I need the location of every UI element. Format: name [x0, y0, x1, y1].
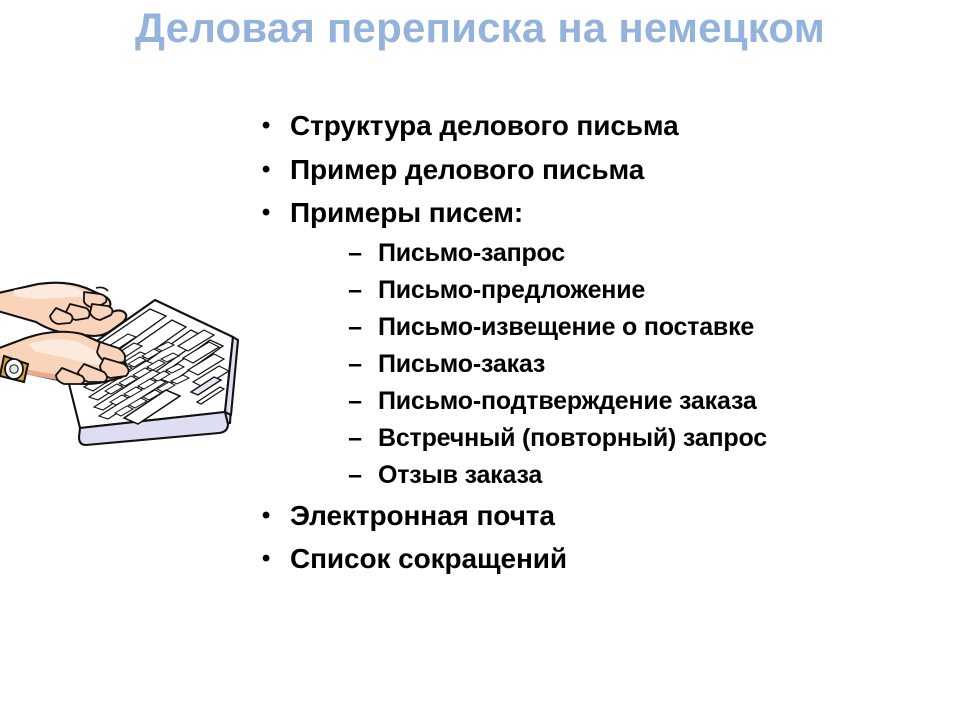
dash-marker-icon: – — [346, 235, 364, 272]
sub-list-item-inquiry: – Письмо-запрос — [290, 235, 910, 272]
dash-marker-icon: – — [346, 457, 364, 494]
watch-dial — [10, 365, 18, 373]
sub-list-item-label: Письмо-подтверждение заказа — [378, 383, 910, 420]
sub-list-item-order-withdrawal: – Отзыв заказа — [290, 457, 910, 494]
slide-canvas: Деловая переписка на немецком — [0, 0, 960, 720]
sub-list-item-label: Встречный (повторный) запрос — [378, 420, 910, 457]
list-item-structure: • Структура делового письма — [250, 104, 910, 148]
list-item-label: Электронная почта — [290, 494, 910, 538]
outline-list-level1: • Структура делового письма • Пример дел… — [250, 104, 910, 581]
bullet-marker-icon: • — [260, 537, 272, 581]
bullet-content: • Структура делового письма • Пример дел… — [250, 104, 910, 581]
dash-marker-icon: – — [346, 346, 364, 383]
hands-typing-on-keyboard-image — [0, 252, 262, 457]
bullet-marker-icon: • — [260, 148, 272, 192]
sub-list-item-label: Письмо-запрос — [378, 235, 910, 272]
bullet-marker-icon: • — [260, 191, 272, 235]
outline-list-level2: – Письмо-запрос – Письмо-предложение – П… — [290, 235, 910, 494]
sub-list-item-label: Письмо-предложение — [378, 272, 910, 309]
list-item-examples-heading: • Примеры писем: – Письмо-запрос – Письм… — [250, 191, 910, 494]
list-item-label: Примеры писем: — [290, 191, 910, 235]
list-item-email: • Электронная почта — [250, 494, 910, 538]
dash-marker-icon: – — [346, 383, 364, 420]
list-item-abbreviations: • Список сокращений — [250, 537, 910, 581]
dash-marker-icon: – — [346, 309, 364, 346]
page-title: Деловая переписка на немецком — [120, 4, 840, 53]
upper-thumb-line — [96, 287, 108, 291]
list-item-label: Структура делового письма — [290, 104, 910, 148]
list-item-label: Пример делового письма — [290, 148, 910, 192]
dash-marker-icon: – — [346, 420, 364, 457]
sub-list-item-label: Письмо-заказ — [378, 346, 910, 383]
sub-list-item-label: Отзыв заказа — [378, 457, 910, 494]
sub-list-item-order-confirmation: – Письмо-подтверждение заказа — [290, 383, 910, 420]
bullet-marker-icon: • — [260, 104, 272, 148]
sub-list-item-order: – Письмо-заказ — [290, 346, 910, 383]
bullet-marker-icon: • — [260, 494, 272, 538]
sub-list-item-delivery-notice: – Письмо-извещение о поставке — [290, 309, 910, 346]
sub-list-item-label: Письмо-извещение о поставке — [378, 309, 910, 346]
dash-marker-icon: – — [346, 272, 364, 309]
sub-list-item-repeat-inquiry: – Встречный (повторный) запрос — [290, 420, 910, 457]
keyboard-illustration-svg — [0, 252, 262, 457]
sub-list-item-offer: – Письмо-предложение — [290, 272, 910, 309]
list-item-example: • Пример делового письма — [250, 148, 910, 192]
list-item-label: Список сокращений — [290, 537, 910, 581]
